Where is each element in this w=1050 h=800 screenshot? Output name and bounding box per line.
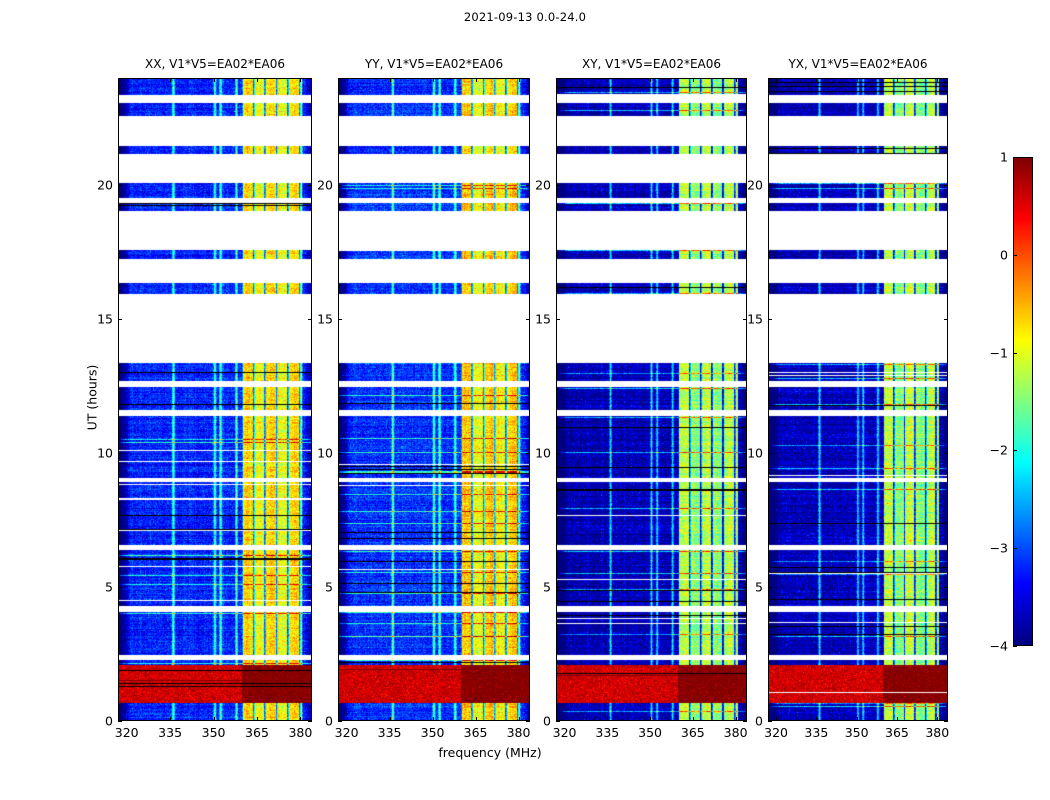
colorbar-tick bbox=[1013, 450, 1017, 451]
x-tick-label: 335 bbox=[595, 725, 619, 740]
x-tick bbox=[476, 717, 477, 721]
y-tick bbox=[338, 587, 342, 588]
x-tick bbox=[127, 717, 128, 721]
y-tick bbox=[556, 453, 560, 454]
y-tick bbox=[118, 587, 122, 588]
y-tick-label: 5 bbox=[755, 580, 763, 595]
x-tick bbox=[693, 78, 694, 82]
x-tick-label: 350 bbox=[421, 725, 445, 740]
y-tick-label: 20 bbox=[747, 178, 763, 193]
panel-title-xx: XX, V1*V5=EA02*EA06 bbox=[118, 57, 312, 71]
y-tick bbox=[944, 319, 948, 320]
x-tick-label: 335 bbox=[378, 725, 402, 740]
axes-yy[interactable] bbox=[338, 78, 530, 721]
axes-yx[interactable] bbox=[768, 78, 948, 721]
y-tick-label: 15 bbox=[317, 312, 333, 327]
x-tick bbox=[390, 78, 391, 82]
y-tick bbox=[308, 721, 312, 722]
y-tick bbox=[338, 721, 342, 722]
y-tick-label: 0 bbox=[755, 714, 763, 729]
colorbar-canvas bbox=[1014, 158, 1032, 645]
x-tick bbox=[776, 717, 777, 721]
figure-root: 2021-09-13 0.0-24.0 XX, V1*V5=EA02*EA063… bbox=[0, 0, 1050, 800]
x-tick bbox=[214, 717, 215, 721]
x-tick bbox=[433, 717, 434, 721]
y-tick bbox=[526, 319, 530, 320]
colorbar-gradient bbox=[1013, 157, 1033, 646]
y-tick bbox=[768, 721, 772, 722]
y-tick bbox=[944, 721, 948, 722]
x-axis-label: frequency (MHz) bbox=[405, 745, 575, 760]
y-tick-label: 15 bbox=[747, 312, 763, 327]
colorbar-tick-label: −1 bbox=[990, 345, 1008, 360]
x-tick-label: 320 bbox=[764, 725, 788, 740]
y-tick bbox=[308, 453, 312, 454]
x-tick bbox=[300, 78, 301, 82]
y-tick bbox=[743, 721, 747, 722]
x-tick-label: 350 bbox=[202, 725, 226, 740]
x-tick bbox=[170, 717, 171, 721]
colorbar-tick bbox=[1013, 157, 1017, 158]
y-tick bbox=[556, 319, 560, 320]
x-tick bbox=[607, 717, 608, 721]
x-tick bbox=[816, 717, 817, 721]
x-tick bbox=[937, 78, 938, 82]
x-tick bbox=[565, 717, 566, 721]
colorbar-tick-label: 1 bbox=[1000, 150, 1008, 165]
y-tick-label: 5 bbox=[105, 580, 113, 595]
y-tick-label: 0 bbox=[105, 714, 113, 729]
y-tick bbox=[526, 587, 530, 588]
panel-yy: YY, V1*V5=EA02*EA06320335350365380051015… bbox=[338, 78, 530, 721]
colorbar-tick-label: −3 bbox=[990, 541, 1008, 556]
x-tick bbox=[857, 78, 858, 82]
x-tick bbox=[214, 78, 215, 82]
x-tick bbox=[519, 78, 520, 82]
y-tick bbox=[118, 721, 122, 722]
y-tick bbox=[338, 319, 342, 320]
x-tick-label: 380 bbox=[507, 725, 531, 740]
y-tick bbox=[556, 721, 560, 722]
x-tick-label: 350 bbox=[638, 725, 662, 740]
y-tick bbox=[526, 721, 530, 722]
y-tick-label: 0 bbox=[325, 714, 333, 729]
x-tick-label: 350 bbox=[845, 725, 869, 740]
colorbar-tick bbox=[1013, 255, 1017, 256]
x-tick-label: 380 bbox=[724, 725, 748, 740]
y-tick bbox=[308, 185, 312, 186]
y-tick bbox=[743, 587, 747, 588]
y-tick bbox=[768, 453, 772, 454]
panel-xx: XX, V1*V5=EA02*EA06320335350365380051015… bbox=[118, 78, 312, 721]
x-tick bbox=[170, 78, 171, 82]
colorbar: −4−3−2−101 bbox=[1013, 157, 1033, 646]
x-tick bbox=[897, 717, 898, 721]
y-tick bbox=[944, 587, 948, 588]
x-tick bbox=[519, 717, 520, 721]
x-tick bbox=[257, 78, 258, 82]
y-tick bbox=[944, 185, 948, 186]
y-tick-label: 15 bbox=[535, 312, 551, 327]
x-tick-label: 380 bbox=[288, 725, 312, 740]
y-tick bbox=[118, 319, 122, 320]
axes-xy[interactable] bbox=[556, 78, 747, 721]
x-tick bbox=[390, 717, 391, 721]
y-tick-label: 10 bbox=[747, 446, 763, 461]
x-tick bbox=[897, 78, 898, 82]
y-tick bbox=[768, 185, 772, 186]
y-tick bbox=[556, 185, 560, 186]
x-tick bbox=[857, 717, 858, 721]
x-tick bbox=[300, 717, 301, 721]
y-tick bbox=[526, 185, 530, 186]
x-tick-label: 320 bbox=[335, 725, 359, 740]
x-tick-label: 335 bbox=[804, 725, 828, 740]
y-tick-label: 10 bbox=[317, 446, 333, 461]
y-axis-label: UT (hours) bbox=[85, 337, 100, 457]
y-tick-label: 5 bbox=[325, 580, 333, 595]
panel-title-yy: YY, V1*V5=EA02*EA06 bbox=[338, 57, 530, 71]
x-tick-label: 335 bbox=[158, 725, 182, 740]
x-tick bbox=[650, 78, 651, 82]
colorbar-tick bbox=[1013, 646, 1017, 647]
x-tick-label: 365 bbox=[681, 725, 705, 740]
panel-xy: XY, V1*V5=EA02*EA06320335350365380051015… bbox=[556, 78, 747, 721]
y-tick-label: 20 bbox=[317, 178, 333, 193]
x-tick-label: 380 bbox=[925, 725, 949, 740]
x-tick-label: 365 bbox=[245, 725, 269, 740]
x-tick-label: 365 bbox=[464, 725, 488, 740]
x-tick bbox=[565, 78, 566, 82]
x-tick bbox=[127, 78, 128, 82]
y-tick-label: 5 bbox=[543, 580, 551, 595]
y-tick-label: 15 bbox=[97, 312, 113, 327]
x-tick bbox=[776, 78, 777, 82]
panel-title-yx: YX, V1*V5=EA02*EA06 bbox=[768, 57, 948, 71]
y-tick bbox=[338, 185, 342, 186]
x-tick-label: 365 bbox=[885, 725, 909, 740]
x-tick-label: 320 bbox=[553, 725, 577, 740]
x-tick bbox=[816, 78, 817, 82]
waterfall-image-xy bbox=[557, 79, 746, 720]
axes-xx[interactable] bbox=[118, 78, 312, 721]
y-tick bbox=[308, 587, 312, 588]
panel-title-xy: XY, V1*V5=EA02*EA06 bbox=[556, 57, 747, 71]
y-tick-label: 20 bbox=[97, 178, 113, 193]
x-tick bbox=[650, 717, 651, 721]
x-tick bbox=[433, 78, 434, 82]
waterfall-image-yx bbox=[769, 79, 947, 720]
figure-suptitle: 2021-09-13 0.0-24.0 bbox=[0, 10, 1050, 24]
x-tick-label: 320 bbox=[115, 725, 139, 740]
x-tick bbox=[607, 78, 608, 82]
x-tick bbox=[476, 78, 477, 82]
y-tick bbox=[944, 453, 948, 454]
y-tick bbox=[768, 319, 772, 320]
x-tick bbox=[693, 717, 694, 721]
y-tick bbox=[526, 453, 530, 454]
colorbar-tick-label: −4 bbox=[990, 639, 1008, 654]
y-tick bbox=[338, 453, 342, 454]
y-tick bbox=[556, 587, 560, 588]
x-tick bbox=[736, 717, 737, 721]
colorbar-tick-label: −2 bbox=[990, 443, 1008, 458]
x-tick bbox=[736, 78, 737, 82]
y-tick bbox=[768, 587, 772, 588]
colorbar-tick bbox=[1013, 548, 1017, 549]
panel-yx: YX, V1*V5=EA02*EA06320335350365380051015… bbox=[768, 78, 948, 721]
x-tick bbox=[257, 717, 258, 721]
waterfall-image-yy bbox=[339, 79, 529, 720]
x-tick bbox=[347, 717, 348, 721]
x-tick bbox=[347, 78, 348, 82]
y-tick-label: 0 bbox=[543, 714, 551, 729]
colorbar-tick bbox=[1013, 353, 1017, 354]
x-tick bbox=[937, 717, 938, 721]
y-tick-label: 20 bbox=[535, 178, 551, 193]
y-tick-label: 10 bbox=[535, 446, 551, 461]
colorbar-tick-label: 0 bbox=[1000, 247, 1008, 262]
y-tick bbox=[118, 453, 122, 454]
waterfall-image-xx bbox=[119, 79, 311, 720]
y-tick bbox=[118, 185, 122, 186]
y-tick bbox=[308, 319, 312, 320]
